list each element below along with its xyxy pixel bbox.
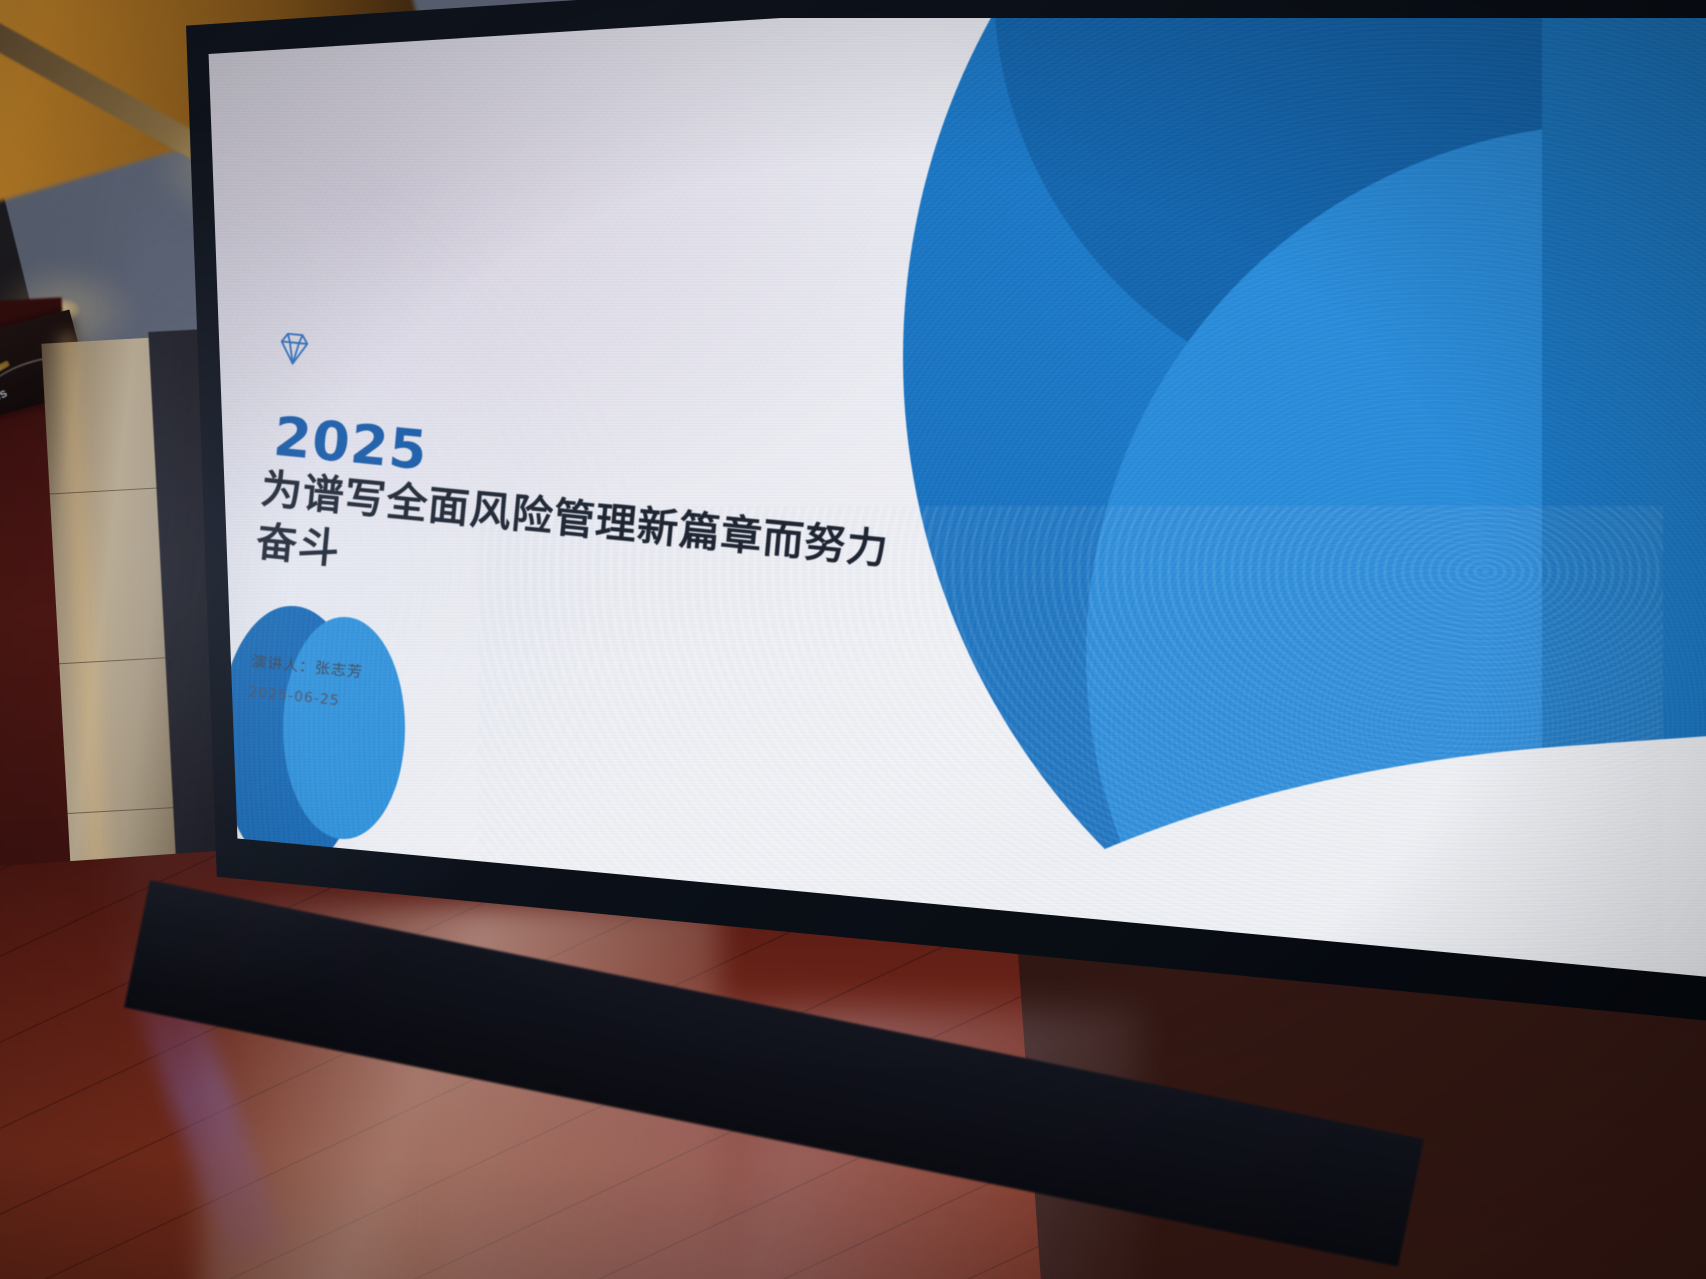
wall-sign-text: rics	[0, 385, 10, 410]
conference-room-photo: rics	[0, 0, 1706, 1279]
diamond-gem-icon	[270, 325, 318, 373]
